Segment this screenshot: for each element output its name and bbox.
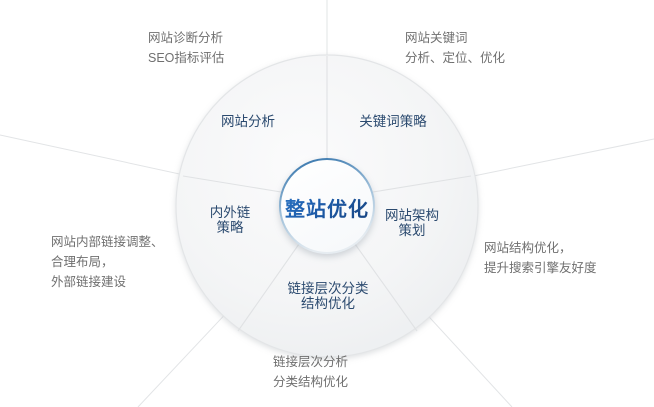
callout-keyword-strategy-line2: 分析、定位、优化 (405, 48, 505, 68)
segment-label-link-hierarchy-line1: 链接层次分类 (266, 281, 390, 296)
callout-keyword-strategy-line1: 网站关键词 (405, 28, 505, 48)
callout-link-strategy-line1: 网站内部链接调整、 (51, 232, 164, 252)
segment-label-site-architecture-line1: 网站架构 (376, 208, 448, 223)
segment-label-link-strategy-line2: 策略 (198, 220, 262, 235)
callout-link-strategy-line2: 合理布局， (51, 252, 164, 272)
diagram-canvas: 整站优化 网站分析 关键词策略 网站架构 策划 链接层次分类 结构优化 内外链 … (0, 0, 654, 407)
segment-label-link-strategy: 内外链 策略 (198, 205, 262, 235)
callout-link-hierarchy-line1: 链接层次分析 (273, 352, 348, 372)
callout-website-analysis-line2: SEO指标评估 (148, 48, 224, 68)
callout-keyword-strategy: 网站关键词 分析、定位、优化 (405, 28, 505, 68)
callout-website-analysis: 网站诊断分析 SEO指标评估 (148, 28, 224, 68)
callout-link-hierarchy-line2: 分类结构优化 (273, 372, 348, 392)
segment-label-link-hierarchy-line2: 结构优化 (266, 296, 390, 311)
callout-link-strategy-line3: 外部链接建设 (51, 272, 164, 292)
callout-site-architecture-line1: 网站结构优化， (484, 238, 597, 258)
segment-label-link-strategy-line1: 内外链 (198, 205, 262, 220)
segment-label-keyword-strategy: 关键词策略 (340, 114, 446, 130)
segment-label-link-hierarchy: 链接层次分类 结构优化 (266, 281, 390, 311)
callout-website-analysis-line1: 网站诊断分析 (148, 28, 224, 48)
callout-link-hierarchy: 链接层次分析 分类结构优化 (273, 352, 348, 392)
callout-site-architecture-line2: 提升搜索引擎友好度 (484, 258, 597, 278)
callout-link-strategy: 网站内部链接调整、 合理布局， 外部链接建设 (51, 232, 164, 292)
callout-site-architecture: 网站结构优化， 提升搜索引擎友好度 (484, 238, 597, 278)
segment-label-website-analysis: 网站分析 (202, 114, 294, 130)
segment-label-site-architecture: 网站架构 策划 (376, 208, 448, 238)
segment-label-site-architecture-line2: 策划 (376, 223, 448, 238)
